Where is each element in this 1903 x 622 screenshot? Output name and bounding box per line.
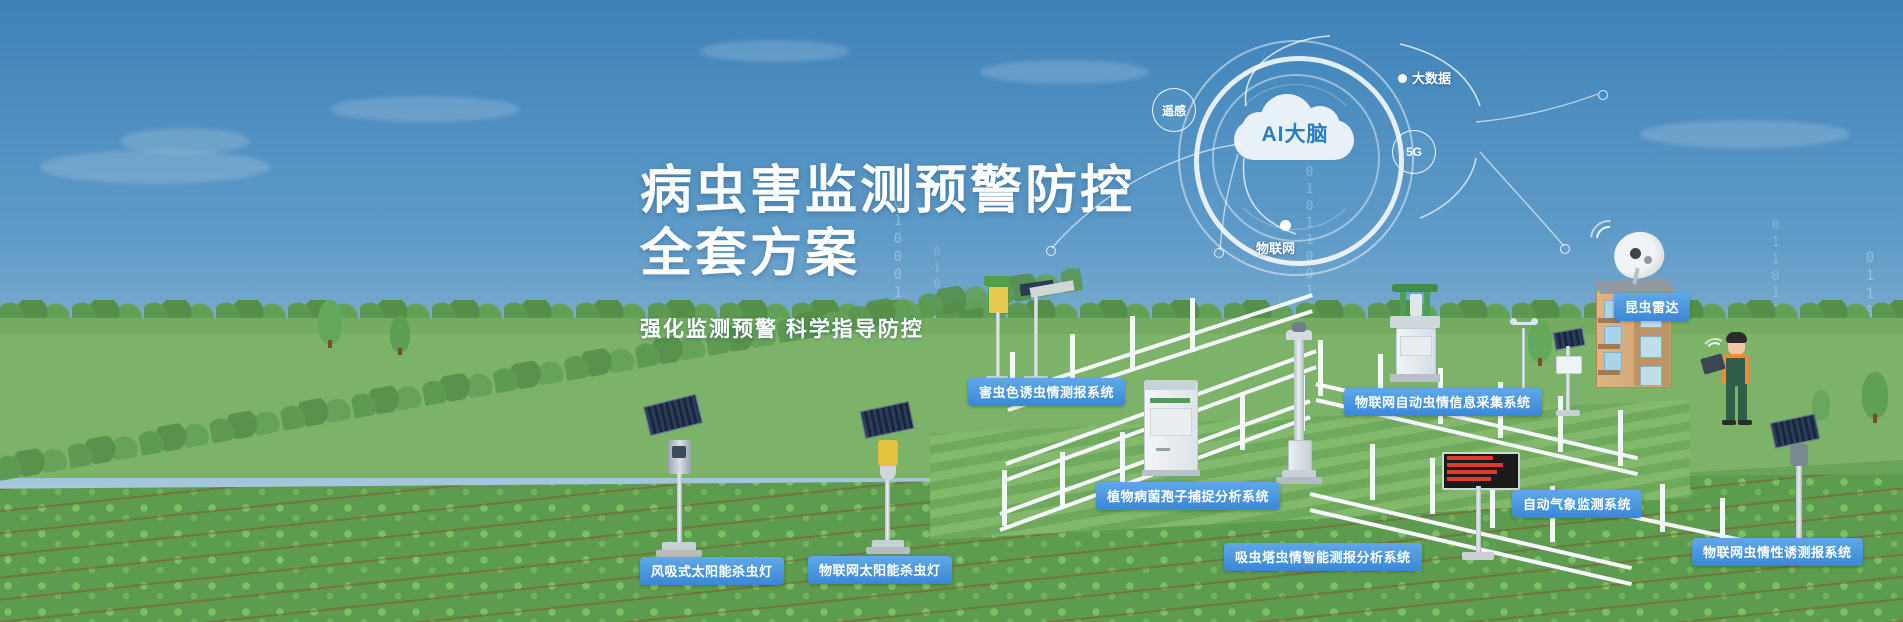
page-subtitle: 强化监测预警 科学指导防控 (640, 313, 1135, 343)
page-title-line1: 病虫害监测预警防控 (640, 160, 1135, 223)
ai-node-5g[interactable]: 5G (1392, 130, 1436, 174)
ai-connector-arcs (1120, 22, 1600, 272)
ai-node-dot-big-data (1398, 74, 1407, 83)
cloud-decor-1 (40, 150, 270, 184)
label-wind-suction-solar-lamp[interactable]: 风吸式太阳能杀虫灯 (640, 557, 784, 585)
banner-scene: 0100010110100100101 010101101001011 0101… (0, 0, 1903, 622)
ai-node-label-5g: 5G (1406, 145, 1422, 159)
label-pest-color-trap[interactable]: 害虫色诱虫情测报系统 (968, 378, 1125, 406)
ai-node-remote-sensing[interactable]: 遥感 (1152, 88, 1196, 132)
label-insect-radar[interactable]: 昆虫雷达 (1614, 293, 1690, 321)
cloud-decor-6 (700, 40, 850, 62)
cloud-decor-5 (1640, 120, 1850, 148)
ai-endpoint-left (1046, 246, 1056, 256)
label-iot-pheromone[interactable]: 物联网虫情性诱测报系统 (1692, 538, 1863, 566)
ai-core-label: AI大脑 (1236, 118, 1354, 148)
ai-node-dot-iot (1280, 220, 1291, 231)
cloud-decor-2 (120, 128, 250, 154)
page-title-line2: 全套方案 (640, 223, 1135, 286)
label-iot-pest-collector[interactable]: 物联网自动虫情信息采集系统 (1344, 388, 1542, 416)
ai-node-label-big-data: 大数据 (1412, 68, 1451, 87)
ai-endpoint-right (1560, 244, 1570, 254)
label-spore-capture[interactable]: 植物病菌孢子捕捉分析系统 (1096, 482, 1280, 510)
ai-endpoint-topright (1598, 90, 1608, 100)
ai-node-label-iot: 物联网 (1256, 238, 1295, 257)
label-suction-tower[interactable]: 吸虫塔虫情智能测报分析系统 (1224, 543, 1422, 571)
cloud-decor-3 (330, 96, 520, 122)
label-auto-weather-system[interactable]: 自动气象监测系统 (1512, 490, 1642, 518)
ai-brain-module: AI大脑 遥感 大数据 5G 物联网 (1120, 22, 1600, 272)
label-iot-solar-lamp[interactable]: 物联网太阳能杀虫灯 (808, 556, 952, 584)
ai-node-label-remote-sensing: 遥感 (1162, 102, 1186, 119)
ai-endpoint-center (1214, 248, 1224, 258)
title-block: 病虫害监测预警防控 全套方案 强化监测预警 科学指导防控 (640, 160, 1135, 343)
